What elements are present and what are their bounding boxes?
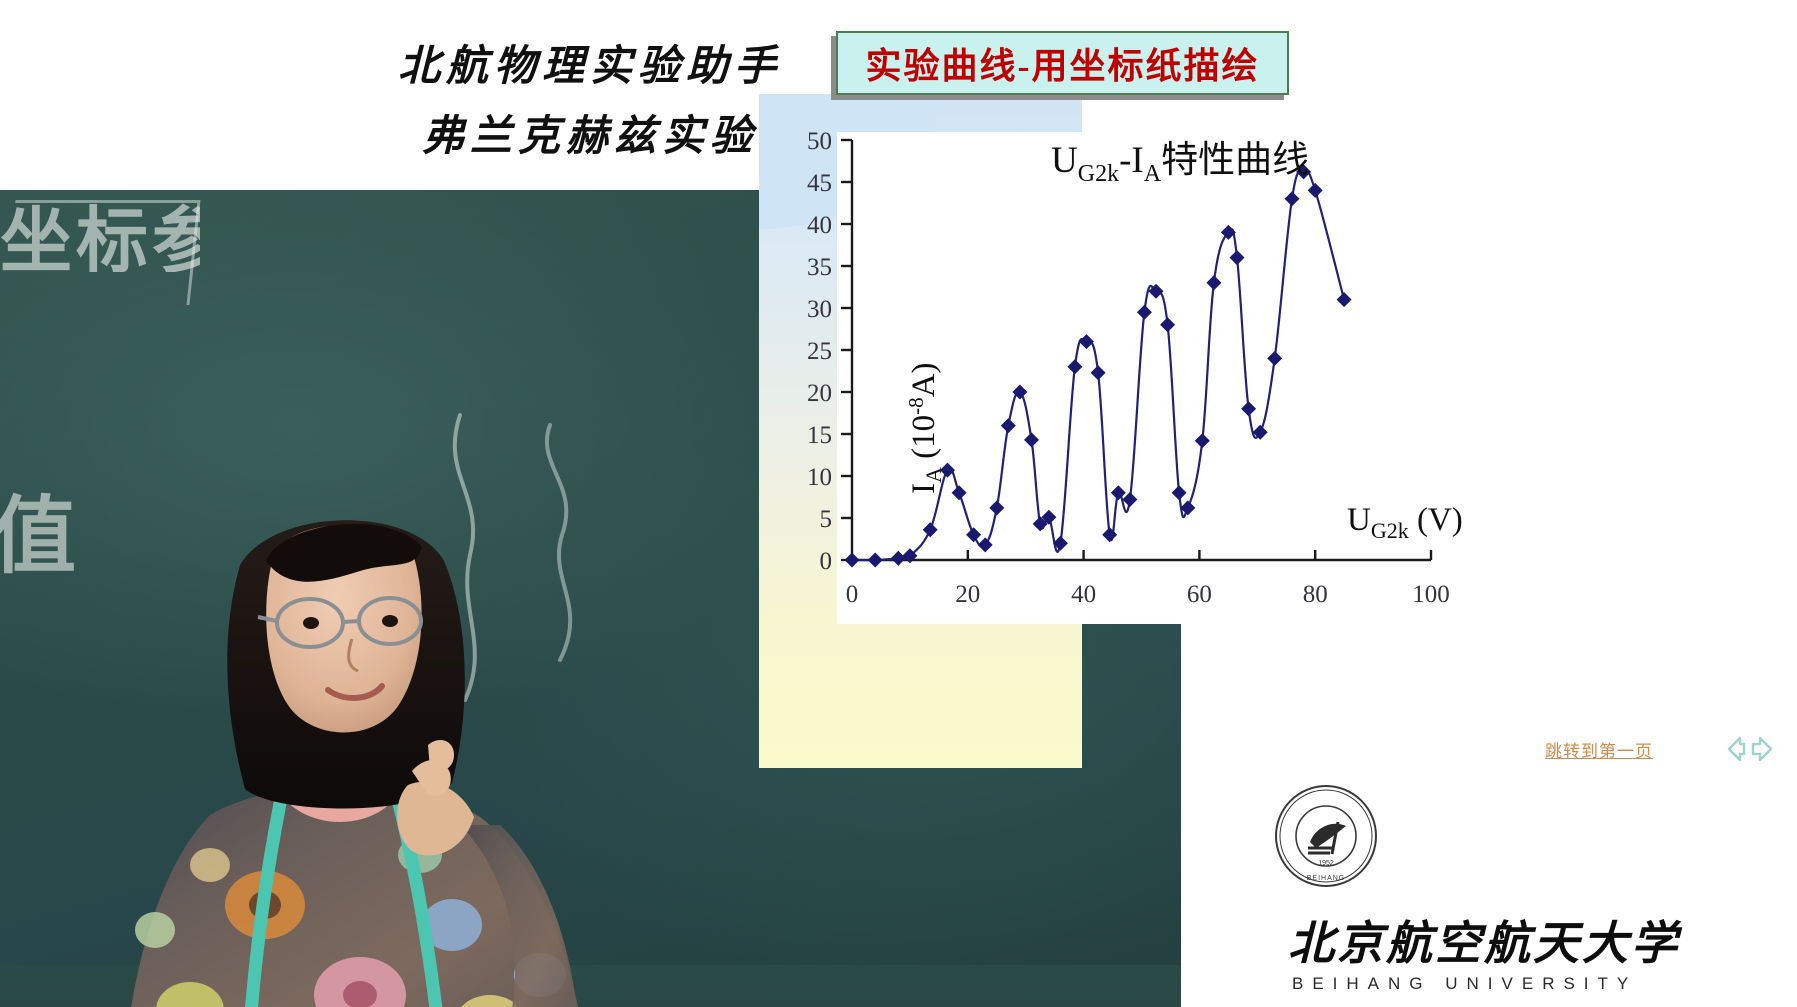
data-point-marker <box>1337 292 1352 307</box>
arrow-right-icon <box>1753 738 1771 760</box>
jump-to-first-page-link[interactable]: 跳转到第一页 <box>1545 737 1653 762</box>
slide-title-banner: 实验曲线-用坐标纸描绘 <box>836 31 1289 95</box>
slide-title-text: 实验曲线-用坐标纸描绘 <box>866 37 1260 89</box>
svg-text:1952: 1952 <box>1318 860 1334 867</box>
svg-text:BEIHANG: BEIHANG <box>1307 875 1346 882</box>
data-point-marker <box>1308 183 1323 198</box>
data-point-marker <box>1206 275 1221 290</box>
x-tick-label: 100 <box>1412 581 1450 608</box>
data-point-marker <box>1195 433 1210 448</box>
slide-background <box>759 94 1082 768</box>
data-point-marker <box>1180 500 1195 515</box>
data-point-marker <box>1253 425 1268 440</box>
slide-navigation-row[interactable]: 跳转到第一页 <box>1545 735 1785 767</box>
chalk-text-top: 坐标参 <box>0 190 200 272</box>
arrow-left-icon <box>1729 738 1744 760</box>
data-point-marker <box>1230 250 1245 265</box>
data-point-marker <box>1267 351 1282 366</box>
lecturer-figure <box>60 385 680 1007</box>
navigation-arrows[interactable] <box>1709 729 1785 769</box>
university-seal-logo: 1952 BEIHANG <box>1272 782 1380 890</box>
university-name-en: BEIHANG UNIVERSITY <box>1292 974 1668 994</box>
data-point-marker <box>1285 191 1300 206</box>
data-point-marker <box>1296 164 1311 179</box>
svg-text:UG2k (V): UG2k (V) <box>1347 502 1463 543</box>
x-axis-title: UG2k (V) <box>1347 502 1463 543</box>
data-point-marker <box>1241 401 1256 416</box>
university-name-cn: 北京航空航天大学 <box>1288 918 1668 970</box>
slide-corner-decoration <box>759 94 939 229</box>
university-wordmark: 北京航空航天大学 BEIHANG UNIVERSITY <box>1288 918 1668 1002</box>
x-tick-label: 60 <box>1187 581 1212 608</box>
x-tick-label: 80 <box>1303 581 1328 608</box>
data-point-marker <box>1221 225 1236 240</box>
